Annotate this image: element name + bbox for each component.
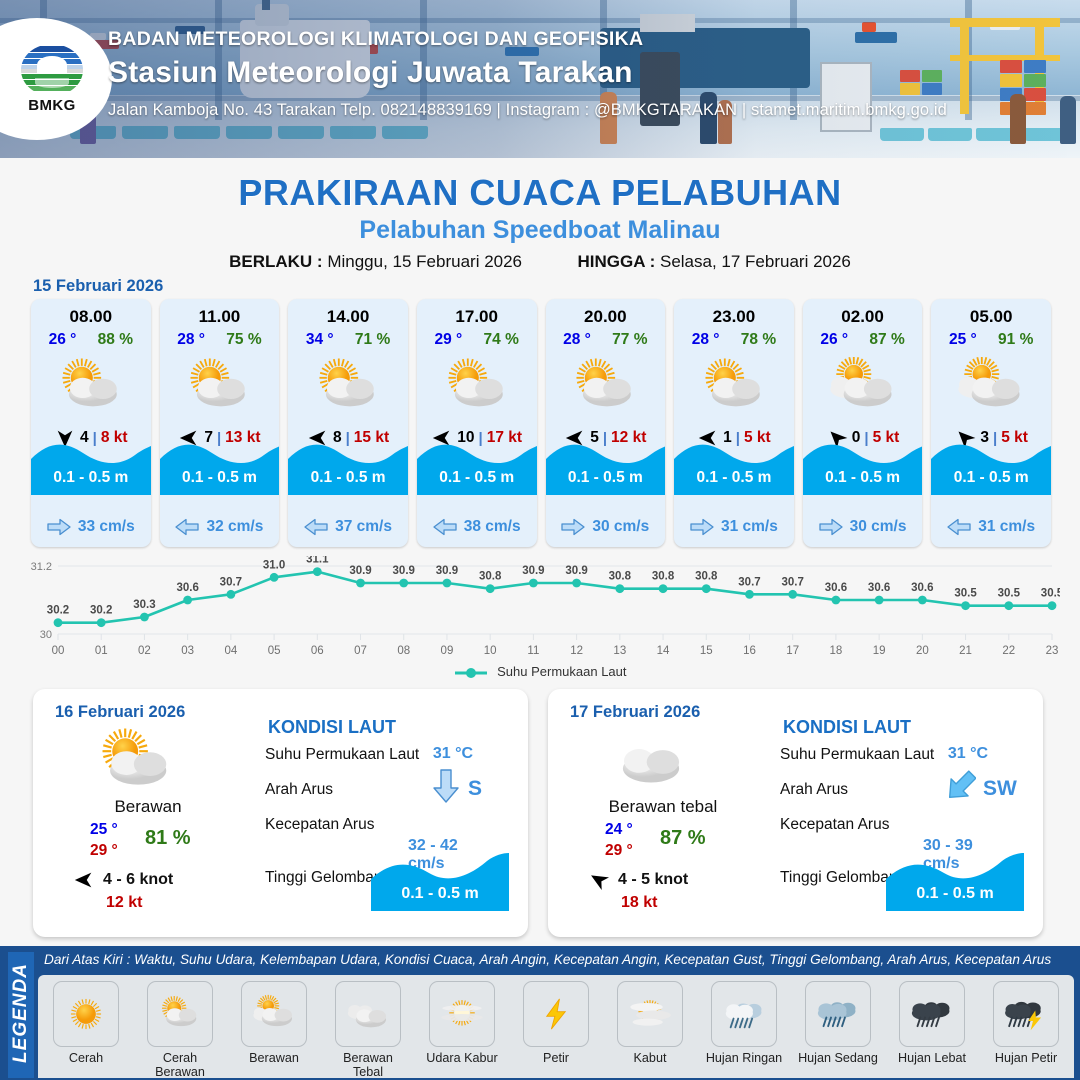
panel-humidity: 81 % [145, 827, 191, 850]
legend-item: Berawan Tebal [328, 981, 408, 1079]
legend-item: Cerah Berawan [140, 981, 220, 1079]
panel-sst-value: 31 °C [948, 745, 988, 763]
current-direction-icon [947, 518, 971, 536]
svg-text:31.0: 31.0 [263, 559, 285, 571]
sst-chart-svg: 3031.20001020304050607080910111213141516… [20, 556, 1060, 681]
cloud-icon [596, 727, 706, 797]
card-current: 30 cm/s [546, 518, 666, 536]
panel-gust: 12 kt [106, 894, 142, 912]
card-temperature: 26 ° [820, 331, 848, 349]
wind-direction-icon [73, 869, 95, 891]
forecast-day-label: 15 Februari 2026 [33, 277, 163, 296]
legend-item-label: Hujan Petir [986, 1051, 1066, 1065]
panel-wind: 4 - 5 knot [588, 869, 688, 891]
svg-text:23: 23 [1046, 645, 1059, 657]
forecast-card: 17.0029 °74 % 10|17 kt0.1 - 0.5 m38 cm/s [417, 299, 537, 547]
svg-text:30.7: 30.7 [782, 576, 804, 588]
svg-text:30.8: 30.8 [695, 571, 718, 583]
panel-wave-value: 0.1 - 0.5 m [401, 885, 478, 903]
svg-text:30.9: 30.9 [565, 565, 587, 577]
sun-cloud-icon [417, 355, 537, 419]
legend-item-label: Berawan Tebal [328, 1051, 408, 1079]
arrow-down-left-icon [946, 769, 976, 808]
svg-text:14: 14 [657, 645, 670, 657]
panel-wind-speed: 4 - 5 knot [618, 871, 688, 889]
card-current: 30 cm/s [803, 518, 923, 536]
panel-gust: 18 kt [621, 894, 657, 912]
panel-sea-title: KONDISI LAUT [783, 717, 911, 738]
current-direction-icon [175, 518, 199, 536]
wind-direction-icon [588, 869, 610, 891]
svg-text:30.6: 30.6 [176, 582, 198, 594]
svg-text:30.5: 30.5 [954, 588, 977, 600]
header-text-block: BADAN METEOROLOGI KLIMATOLOGI DAN GEOFIS… [108, 28, 947, 120]
card-humidity: 71 % [355, 331, 390, 349]
legend-item: Hujan Petir [986, 981, 1066, 1065]
bmkg-globe-icon [21, 44, 83, 96]
sun-cloud-icon [674, 355, 794, 419]
card-temperature: 34 ° [306, 331, 334, 349]
svg-text:08: 08 [397, 645, 410, 657]
sun-cloud-icon [160, 355, 280, 419]
forecast-card: 11.0028 °75 % 7|13 kt0.1 - 0.5 m32 cm/s [160, 299, 280, 547]
svg-text:19: 19 [873, 645, 886, 657]
panel-temp-min: 25 ° [90, 821, 118, 839]
card-wave-height: 0.1 - 0.5 m [674, 469, 794, 487]
svg-text:30: 30 [40, 629, 52, 641]
sun-cloud-icon [546, 355, 666, 419]
legend-tab: LEGENDA [8, 952, 34, 1078]
card-temp-humidity: 25 °91 % [931, 331, 1051, 349]
legend-item-label: Kabut [610, 1051, 690, 1065]
legend-item: Berawan [234, 981, 314, 1065]
svg-text:30.9: 30.9 [522, 565, 544, 577]
card-time: 23.00 [674, 307, 794, 327]
sun-clouds-icon [931, 355, 1051, 419]
panel-wave-value: 0.1 - 0.5 m [916, 885, 993, 903]
agency-name: BADAN METEOROLOGI KLIMATOLOGI DAN GEOFIS… [108, 28, 947, 51]
card-temp-humidity: 26 °88 % [31, 331, 151, 349]
svg-text:30.5: 30.5 [998, 588, 1021, 600]
page-header: BMKG BADAN METEOROLOGI KLIMATOLOGI DAN G… [0, 0, 1080, 158]
legend-item: Udara Kabur [422, 981, 502, 1065]
panel-temp-max: 29 ° [605, 842, 633, 860]
valid-until-value: Selasa, 17 Februari 2026 [660, 252, 851, 271]
svg-text:20: 20 [916, 645, 929, 657]
legend-item-label: Cerah Berawan [140, 1051, 220, 1079]
card-temperature: 28 ° [563, 331, 591, 349]
svg-text:30.9: 30.9 [393, 565, 415, 577]
current-direction-icon [819, 518, 843, 536]
forecast-card: 14.0034 °71 % 8|15 kt0.1 - 0.5 m37 cm/s [288, 299, 408, 547]
card-temp-humidity: 28 °78 % [674, 331, 794, 349]
card-time: 02.00 [803, 307, 923, 327]
card-current: 31 cm/s [674, 518, 794, 536]
legend-items-row: Cerah Cerah Berawan Berawan Berawan Teba… [38, 975, 1074, 1078]
card-wave-height: 0.1 - 0.5 m [417, 469, 537, 487]
sun-cloud-icon [288, 355, 408, 419]
page-subtitle: Pelabuhan Speedboat Malinau [0, 216, 1080, 245]
valid-from-label: BERLAKU : [229, 252, 323, 271]
card-time: 05.00 [931, 307, 1051, 327]
forecast-card: 23.0028 °78 % 1|5 kt0.1 - 0.5 m31 cm/s [674, 299, 794, 547]
legend-item: Petir [516, 981, 596, 1065]
svg-text:30.3: 30.3 [133, 599, 155, 611]
logo-label: BMKG [21, 97, 83, 114]
sun-cloud-icon [81, 727, 191, 797]
panel-condition: Berawan [33, 797, 263, 817]
forecast-card: 05.0025 °91 % 3|5 kt0.1 - 0.5 m31 cm/s [931, 299, 1051, 547]
forecast-card: 08.0026 °88 % 4|8 kt0.1 - 0.5 m33 cm/s [31, 299, 151, 547]
legend-item: Hujan Lebat [892, 981, 972, 1065]
station-name: Stasiun Meteorologi Juwata Tarakan [108, 56, 947, 90]
svg-text:30.7: 30.7 [220, 576, 242, 588]
contact-line: Jalan Kamboja No. 43 Tarakan Telp. 08214… [108, 101, 947, 120]
sun-cloud-icon [31, 355, 151, 419]
svg-text:01: 01 [95, 645, 108, 657]
current-direction-icon [690, 518, 714, 536]
card-humidity: 74 % [484, 331, 519, 349]
panel-sst-value: 31 °C [433, 745, 473, 763]
svg-text:30.2: 30.2 [47, 605, 69, 617]
svg-text:21: 21 [959, 645, 972, 657]
panel-date: 17 Februari 2026 [570, 703, 700, 722]
svg-text:22: 22 [1002, 645, 1015, 657]
card-time: 08.00 [31, 307, 151, 327]
legend-item-label: Hujan Ringan [704, 1051, 784, 1065]
legend-item-label: Udara Kabur [422, 1051, 502, 1065]
panel-sea-title: KONDISI LAUT [268, 717, 396, 738]
svg-text:30.8: 30.8 [652, 571, 675, 583]
haze-icon [429, 981, 495, 1047]
legend-item-label: Hujan Sedang [798, 1051, 878, 1065]
svg-text:30.9: 30.9 [349, 565, 371, 577]
panel-current-dir-value: S [468, 777, 482, 801]
sun-cloud-icon [147, 981, 213, 1047]
panel-temp-max: 29 ° [90, 842, 118, 860]
sun-clouds-icon [803, 355, 923, 419]
svg-text:30.6: 30.6 [868, 582, 890, 594]
svg-text:04: 04 [224, 645, 237, 657]
current-direction-icon [304, 518, 328, 536]
svg-text:30.8: 30.8 [479, 571, 502, 583]
svg-text:03: 03 [181, 645, 194, 657]
card-humidity: 91 % [998, 331, 1033, 349]
svg-text:15: 15 [700, 645, 713, 657]
legend-item-label: Petir [516, 1051, 596, 1065]
svg-text:30.2: 30.2 [90, 605, 112, 617]
svg-text:16: 16 [743, 645, 756, 657]
card-wave-height: 0.1 - 0.5 m [931, 469, 1051, 487]
daily-forecast-panel: 17 Februari 2026 Berawan tebal 24 ° 29 °… [548, 689, 1043, 937]
card-temperature: 26 ° [49, 331, 77, 349]
card-time: 17.00 [417, 307, 537, 327]
panel-condition: Berawan tebal [548, 797, 778, 817]
card-humidity: 75 % [226, 331, 261, 349]
legend-item: Hujan Sedang [798, 981, 878, 1065]
svg-text:07: 07 [354, 645, 367, 657]
card-time: 20.00 [546, 307, 666, 327]
legend-item: Cerah [46, 981, 126, 1065]
svg-text:30.9: 30.9 [436, 565, 458, 577]
current-direction-icon [561, 518, 585, 536]
card-current-speed: 38 cm/s [464, 518, 521, 536]
legend-item-label: Cerah [46, 1051, 126, 1065]
card-current-speed: 32 cm/s [206, 518, 263, 536]
light-rain-icon [711, 981, 777, 1047]
panel-current-dir-value: SW [983, 777, 1017, 801]
panel-wind-speed: 4 - 6 knot [103, 871, 173, 889]
svg-text:05: 05 [268, 645, 281, 657]
daily-forecast-panel: 16 Februari 2026 Berawan 25 ° 29 ° 81 % … [33, 689, 528, 937]
card-time: 14.00 [288, 307, 408, 327]
heavy-rain-icon [899, 981, 965, 1047]
card-current: 32 cm/s [160, 518, 280, 536]
svg-text:10: 10 [484, 645, 497, 657]
sst-chart: 3031.20001020304050607080910111213141516… [20, 556, 1060, 681]
current-direction-icon [47, 518, 71, 536]
sun-icon [53, 981, 119, 1047]
legend-item: Kabut [610, 981, 690, 1065]
card-current: 37 cm/s [288, 518, 408, 536]
card-current-speed: 30 cm/s [592, 518, 649, 536]
moderate-rain-icon [805, 981, 871, 1047]
card-temperature: 29 ° [435, 331, 463, 349]
valid-from-value: Minggu, 15 Februari 2026 [327, 252, 522, 271]
card-wave-height: 0.1 - 0.5 m [803, 469, 923, 487]
card-wave-height: 0.1 - 0.5 m [31, 469, 151, 487]
legend-item-label: Hujan Lebat [892, 1051, 972, 1065]
svg-text:31.1: 31.1 [306, 556, 329, 566]
panel-current-dir-label: Arah Arus [780, 781, 848, 799]
card-current: 31 cm/s [931, 518, 1051, 536]
card-humidity: 88 % [98, 331, 133, 349]
forecast-card: 02.0026 °87 % 0|5 kt0.1 - 0.5 m30 cm/s [803, 299, 923, 547]
svg-text:30.8: 30.8 [609, 571, 632, 583]
svg-text:00: 00 [52, 645, 65, 657]
valid-until-label: HINGGA : [577, 252, 655, 271]
card-time: 11.00 [160, 307, 280, 327]
legend-note: Dari Atas Kiri : Waktu, Suhu Udara, Kele… [44, 952, 1074, 967]
svg-text:06: 06 [311, 645, 324, 657]
panel-humidity: 87 % [660, 827, 706, 850]
legend-item: Hujan Ringan [704, 981, 784, 1065]
svg-text:09: 09 [441, 645, 454, 657]
svg-text:13: 13 [613, 645, 626, 657]
card-wave-height: 0.1 - 0.5 m [546, 469, 666, 487]
card-current-speed: 30 cm/s [850, 518, 907, 536]
svg-text:17: 17 [786, 645, 799, 657]
chart-legend-marker-icon [454, 667, 488, 679]
svg-text:18: 18 [830, 645, 843, 657]
panel-wind: 4 - 6 knot [73, 869, 173, 891]
card-temp-humidity: 26 °87 % [803, 331, 923, 349]
sun-clouds-icon [241, 981, 307, 1047]
card-temperature: 25 ° [949, 331, 977, 349]
svg-text:30.7: 30.7 [738, 576, 760, 588]
page-title: PRAKIRAAN CUACA PELABUHAN [0, 172, 1080, 214]
svg-text:02: 02 [138, 645, 151, 657]
card-current: 33 cm/s [31, 518, 151, 536]
panel-temp-min: 24 ° [605, 821, 633, 839]
lightning-icon [523, 981, 589, 1047]
card-current-speed: 33 cm/s [78, 518, 135, 536]
chart-legend: Suhu Permukaan Laut [0, 664, 1080, 679]
chart-legend-label: Suhu Permukaan Laut [497, 664, 626, 679]
panel-current-speed-label: Kecepatan Arus [780, 816, 889, 834]
card-humidity: 87 % [869, 331, 904, 349]
fog-icon [617, 981, 683, 1047]
svg-text:31.2: 31.2 [31, 561, 52, 573]
current-direction-icon [433, 518, 457, 536]
card-temperature: 28 ° [177, 331, 205, 349]
svg-text:12: 12 [570, 645, 583, 657]
legend-tab-label: LEGENDA [10, 950, 32, 1076]
svg-text:11: 11 [527, 645, 539, 657]
hourly-forecast-row: 08.0026 °88 % 4|8 kt0.1 - 0.5 m33 cm/s11… [31, 299, 1051, 547]
panel-sst-label: Suhu Permukaan Laut [265, 746, 419, 764]
panel-date: 16 Februari 2026 [55, 703, 185, 722]
card-temperature: 28 ° [692, 331, 720, 349]
card-wave-height: 0.1 - 0.5 m [288, 469, 408, 487]
thunderstorm-icon [993, 981, 1059, 1047]
card-temp-humidity: 29 °74 % [417, 331, 537, 349]
validity-line: BERLAKU : Minggu, 15 Februari 2026 HINGG… [0, 252, 1080, 272]
arrow-down-icon [431, 769, 461, 808]
clouds-icon [335, 981, 401, 1047]
card-humidity: 77 % [612, 331, 647, 349]
card-temp-humidity: 28 °77 % [546, 331, 666, 349]
card-current-speed: 31 cm/s [721, 518, 778, 536]
infographic-root: BMKG BADAN METEOROLOGI KLIMATOLOGI DAN G… [0, 0, 1080, 1080]
card-current-speed: 31 cm/s [978, 518, 1035, 536]
legend-item-label: Berawan [234, 1051, 314, 1065]
panel-current-speed-label: Kecepatan Arus [265, 816, 374, 834]
card-temp-humidity: 34 °71 % [288, 331, 408, 349]
card-humidity: 78 % [741, 331, 776, 349]
svg-text:30.5: 30.5 [1041, 588, 1060, 600]
card-temp-humidity: 28 °75 % [160, 331, 280, 349]
svg-text:30.6: 30.6 [825, 582, 847, 594]
card-current: 38 cm/s [417, 518, 537, 536]
card-current-speed: 37 cm/s [335, 518, 392, 536]
panel-current-dir-label: Arah Arus [265, 781, 333, 799]
panel-sst-label: Suhu Permukaan Laut [780, 746, 934, 764]
forecast-card: 20.0028 °77 % 5|12 kt0.1 - 0.5 m30 cm/s [546, 299, 666, 547]
card-wave-height: 0.1 - 0.5 m [160, 469, 280, 487]
svg-text:30.6: 30.6 [911, 582, 933, 594]
